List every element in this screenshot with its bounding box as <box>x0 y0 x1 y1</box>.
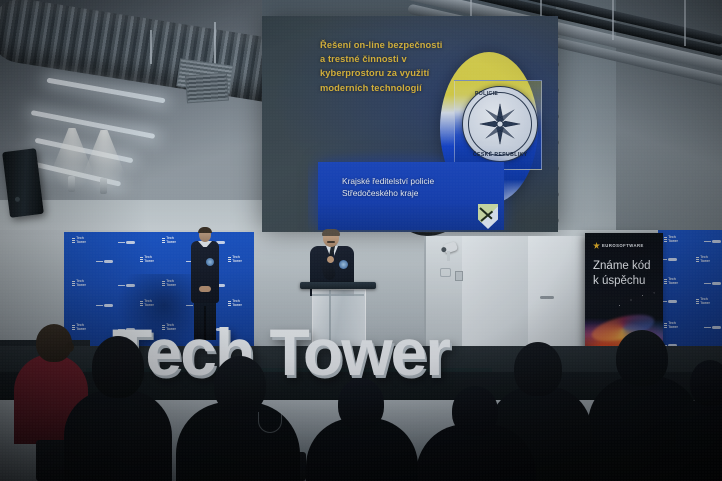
tech-tower-logo-icon: TechTower <box>664 278 678 285</box>
tagline-line-2: k úspěchu <box>593 274 659 289</box>
officer-hands <box>199 286 211 292</box>
light-switch[interactable] <box>455 271 463 281</box>
tech-tower-logo-icon: TechTower <box>72 280 86 287</box>
wall-air-grille <box>185 73 229 104</box>
pipe-hanger <box>150 30 152 64</box>
tech-tower-logo-icon: TechTower <box>664 322 678 329</box>
pipe-hanger <box>612 0 614 40</box>
speaker-hand <box>327 256 334 263</box>
tagline-line-1: Známe kód <box>593 259 659 274</box>
sponsor-logo-icon <box>704 282 721 285</box>
lectern-top <box>300 282 376 289</box>
speaker-hair <box>322 229 340 236</box>
tech-tower-logo-icon: TechTower <box>72 237 86 244</box>
eurosoftware-brand-text: EUROSOFTWARE <box>602 243 644 248</box>
audience-member <box>64 390 172 481</box>
tech-tower-logo-icon: TechTower <box>228 256 242 263</box>
audience-head <box>92 336 144 398</box>
pipe-hanger <box>684 0 686 46</box>
lectern-shelf <box>312 294 364 296</box>
sponsor-logo-icon <box>118 241 135 244</box>
tech-tower-logo-icon: TechTower <box>696 256 710 263</box>
audience-member <box>676 398 722 481</box>
asterisk-icon <box>593 242 600 249</box>
officer-uniform <box>191 241 219 303</box>
camera-mount <box>447 251 450 261</box>
speaker-moustache <box>327 241 335 243</box>
eurosoftware-tagline: Známe kód k úspěchu <box>593 259 659 288</box>
stage-signage-letters: Tech Tower <box>112 316 492 388</box>
audience-ear <box>66 342 74 352</box>
projector-haze <box>262 16 558 232</box>
audience-head <box>690 360 722 406</box>
conference-photo: Řešení on-line bezpečnosti a trestné čin… <box>0 0 722 481</box>
sponsor-logo-icon <box>704 240 721 243</box>
sponsor-logo-icon <box>96 260 113 263</box>
audience-head <box>514 342 562 396</box>
pipe-hanger <box>214 22 216 64</box>
tech-tower-logo-icon: TechTower <box>228 300 242 307</box>
tech-tower-logo-icon: TechTower <box>696 298 710 305</box>
banner-dot-trail <box>615 291 661 309</box>
tech-tower-logo-icon: TechTower <box>72 324 86 331</box>
eurosoftware-logo: EUROSOFTWARE <box>593 242 644 249</box>
backdrop-logo-line-2: Tower <box>76 240 86 244</box>
tech-tower-logo-icon: TechTower <box>664 236 678 243</box>
audience-head <box>338 378 384 430</box>
audience-head <box>616 330 668 386</box>
sponsor-logo-icon <box>96 304 113 307</box>
audience-head <box>214 356 266 414</box>
officer-hair <box>198 227 212 233</box>
wall-outlet <box>440 268 451 277</box>
sponsor-backdrop-right: TechTower TechTower TechTower TechTower … <box>658 230 722 360</box>
officer-badge <box>206 258 214 266</box>
speaker-badge <box>339 260 348 269</box>
door-leaf-right[interactable] <box>528 236 587 346</box>
audience-head <box>452 386 498 436</box>
tech-tower-logo-icon: TechTower <box>140 256 154 263</box>
sponsor-logo-icon <box>704 326 721 329</box>
door-handle[interactable] <box>540 296 554 299</box>
tech-tower-logo-icon: TechTower <box>162 237 176 244</box>
